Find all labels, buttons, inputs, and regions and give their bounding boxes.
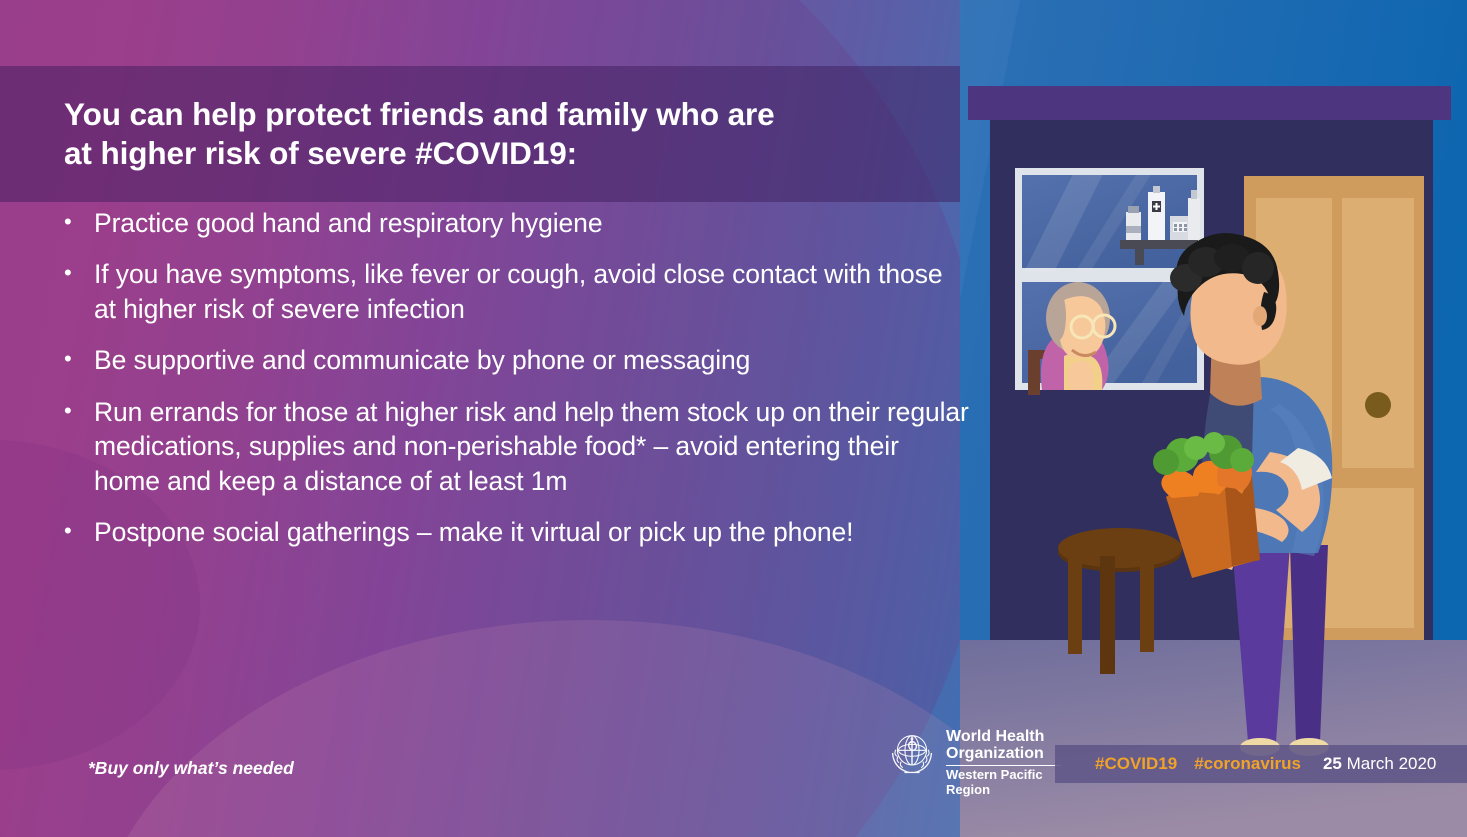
illustration xyxy=(960,0,1467,837)
footnote: *Buy only what’s needed xyxy=(88,758,294,779)
list-item-text: Postpone social gatherings – make it vir… xyxy=(94,515,969,549)
who-line-1: World Health xyxy=(946,729,1061,746)
medicine-tube xyxy=(1148,192,1165,240)
list-item-text: Run errands for those at higher risk and… xyxy=(94,395,969,498)
who-region-label: Western Pacific Region xyxy=(946,767,1061,797)
woman-face xyxy=(1059,296,1106,358)
header-band: You can help protect friends and family … xyxy=(0,66,960,202)
page-title: You can help protect friends and family … xyxy=(0,95,795,172)
stool-leg-3 xyxy=(1140,548,1154,652)
list-item: • Be supportive and communicate by phone… xyxy=(64,343,969,377)
list-item-text: If you have symptoms, like fever or coug… xyxy=(94,257,969,326)
hashtag-coronavirus[interactable]: #coronavirus xyxy=(1194,754,1301,774)
list-item-text: Be supportive and communicate by phone o… xyxy=(94,343,969,377)
bullet-icon: • xyxy=(64,257,94,326)
bullet-icon: • xyxy=(64,206,94,240)
publish-date: 25 March 2020 xyxy=(1323,754,1436,774)
woman-hands xyxy=(1067,361,1093,390)
bullet-icon: • xyxy=(64,395,94,498)
door-lintel xyxy=(968,86,1451,120)
list-item: • Practice good hand and respiratory hyg… xyxy=(64,206,969,240)
who-emblem xyxy=(885,726,939,780)
man-ear xyxy=(1253,306,1267,326)
stool-leg-2 xyxy=(1100,556,1115,674)
list-item-text: Practice good hand and respiratory hygie… xyxy=(94,206,969,240)
who-logo: World Health Organization Western Pacifi… xyxy=(885,726,1061,788)
publish-date-day: 25 xyxy=(1323,754,1342,773)
advice-list: • Practice good hand and respiratory hyg… xyxy=(64,206,969,567)
list-item: • Run errands for those at higher risk a… xyxy=(64,395,969,498)
bullet-icon: • xyxy=(64,515,94,549)
list-item: • Postpone social gatherings – make it v… xyxy=(64,515,969,549)
who-divider xyxy=(946,765,1061,767)
bullet-icon: • xyxy=(64,343,94,377)
publish-date-rest: March 2020 xyxy=(1342,754,1437,773)
door-knob xyxy=(1365,392,1391,418)
who-wordmark: World Health Organization Western Pacifi… xyxy=(946,726,1061,797)
list-item: • If you have symptoms, like fever or co… xyxy=(64,257,969,326)
hashtag-bar: #COVID19 #coronavirus 25 March 2020 xyxy=(1055,745,1467,783)
hashtag-covid19[interactable]: #COVID19 xyxy=(1095,754,1177,774)
who-line-2: Organization xyxy=(946,746,1061,763)
spray-bottle xyxy=(1188,198,1200,240)
door-panel-right xyxy=(1342,198,1414,468)
stool-leg-1 xyxy=(1068,548,1082,654)
